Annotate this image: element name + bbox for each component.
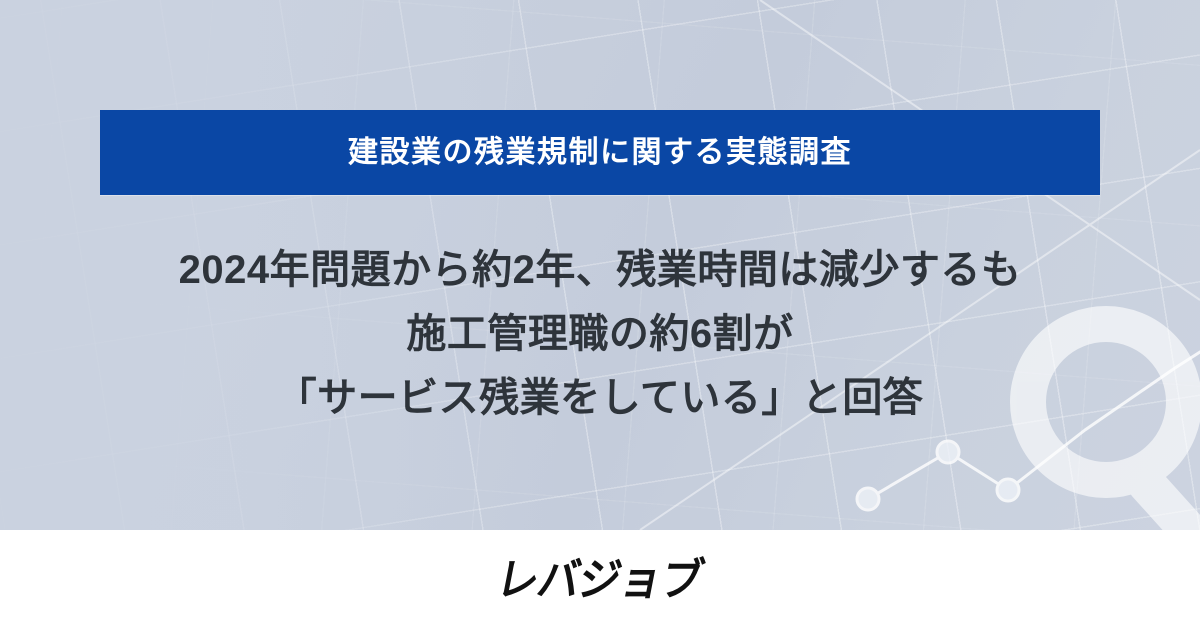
headline-line-3: 「サービス残業をしている」と回答 [0, 366, 1200, 430]
brand-logo: レバジョブ [493, 558, 707, 603]
headline-line-2: 施工管理職の約6割が [0, 302, 1200, 366]
ogp-card: 建設業の残業規制に関する実態調査 2024年問題から約2年、残業時間は減少するも… [0, 0, 1200, 630]
footer: レバジョブ [0, 530, 1200, 630]
banner-title: 建設業の残業規制に関する実態調査 [348, 138, 852, 168]
page-title: 2024年問題から約2年、残業時間は減少するも 施工管理職の約6割が 「サービス… [0, 238, 1200, 430]
banner: 建設業の残業規制に関する実態調査 [100, 110, 1100, 195]
headline-line-1: 2024年問題から約2年、残業時間は減少するも [0, 238, 1200, 302]
